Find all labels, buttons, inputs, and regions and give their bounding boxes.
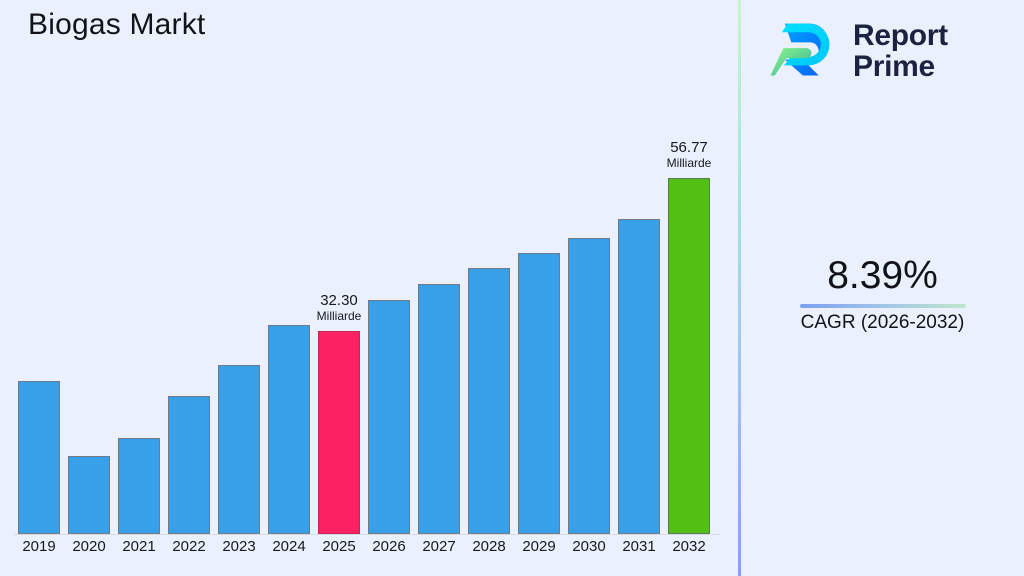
x-axis-tick-2020: 2020: [64, 538, 114, 555]
bar-slot-2025: 32.30Milliarde: [314, 0, 364, 534]
x-axis-tick-2027: 2027: [414, 538, 464, 555]
bar-slot-2028: [464, 0, 514, 534]
brand-name-line1: Report: [853, 20, 948, 51]
cagr-block: 8.39% CAGR (2026-2032): [741, 255, 1024, 334]
cagr-divider-rule: [800, 304, 966, 308]
x-axis-line: [14, 534, 720, 535]
bar-2020[interactable]: [68, 456, 110, 534]
bar-2027[interactable]: [418, 284, 460, 534]
x-axis-tick-2023: 2023: [214, 538, 264, 555]
bar-value-label-2032: 56.77Milliarde: [667, 140, 712, 170]
bar-slot-2029: [514, 0, 564, 534]
bar-value-number-2025: 32.30: [317, 293, 362, 310]
bar-slot-2024: [264, 0, 314, 534]
x-axis-tick-2024: 2024: [264, 538, 314, 555]
bar-2023[interactable]: [218, 365, 260, 534]
x-axis-tick-2031: 2031: [614, 538, 664, 555]
bar-slot-2019: [14, 0, 64, 534]
x-axis-tick-2022: 2022: [164, 538, 214, 555]
x-axis-tick-2026: 2026: [364, 538, 414, 555]
bar-slot-2023: [214, 0, 264, 534]
brand-name-line2: Prime: [853, 51, 948, 82]
bar-2019[interactable]: [18, 381, 60, 534]
cagr-caption: CAGR (2026-2032): [741, 312, 1024, 334]
bar-slot-2022: [164, 0, 214, 534]
bar-2026[interactable]: [368, 300, 410, 534]
bar-value-label-2025: 32.30Milliarde: [317, 293, 362, 323]
x-axis-tick-2025: 2025: [314, 538, 364, 555]
x-axis-tick-2030: 2030: [564, 538, 614, 555]
bar-2031[interactable]: [618, 219, 660, 534]
bar-slot-2021: [114, 0, 164, 534]
bar-chart-plot: 20192020202120222023202432.30Milliarde20…: [0, 0, 738, 576]
cagr-value: 8.39%: [741, 255, 1024, 298]
x-axis-tick-2028: 2028: [464, 538, 514, 555]
side-panel: Report Prime 8.39% CAGR (2026-2032): [741, 0, 1024, 576]
bar-slot-2032: 56.77Milliarde: [664, 0, 714, 534]
bar-2030[interactable]: [568, 238, 610, 534]
x-axis-tick-2019: 2019: [14, 538, 64, 555]
bar-2025[interactable]: [318, 331, 360, 534]
chart-panel: Biogas Markt 20192020202120222023202432.…: [0, 0, 738, 576]
bar-slot-2020: [64, 0, 114, 534]
brand-logo: Report Prime: [769, 12, 1009, 90]
report-prime-r-mark-icon: [769, 15, 841, 87]
bar-slot-2031: [614, 0, 664, 534]
bar-slot-2027: [414, 0, 464, 534]
bar-2028[interactable]: [468, 268, 510, 534]
bar-2022[interactable]: [168, 396, 210, 534]
bar-2032[interactable]: [668, 178, 710, 534]
chart-screenshot: Biogas Markt 20192020202120222023202432.…: [0, 0, 1024, 576]
brand-name: Report Prime: [853, 20, 948, 82]
bar-2024[interactable]: [268, 325, 310, 534]
bar-slot-2030: [564, 0, 614, 534]
bar-2021[interactable]: [118, 438, 160, 534]
bar-slot-2026: [364, 0, 414, 534]
bar-2029[interactable]: [518, 253, 560, 534]
x-axis-tick-2032: 2032: [664, 538, 714, 555]
bar-value-unit-2025: Milliarde: [317, 310, 362, 323]
x-axis-tick-2029: 2029: [514, 538, 564, 555]
bar-value-unit-2032: Milliarde: [667, 157, 712, 170]
bar-value-number-2032: 56.77: [667, 140, 712, 157]
x-axis-tick-2021: 2021: [114, 538, 164, 555]
